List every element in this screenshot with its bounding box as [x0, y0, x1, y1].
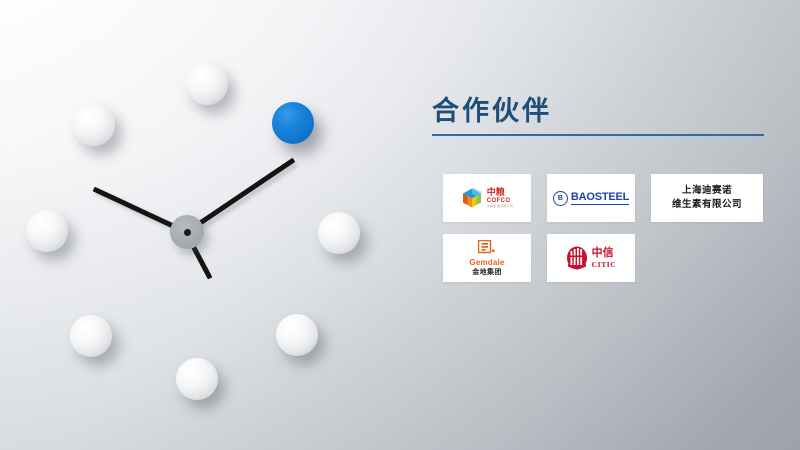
cofco-sub-label: 中粮集团有限公司: [487, 205, 513, 208]
clock-center-pin: [184, 229, 191, 236]
partner-logo-cofco[interactable]: 中粮 COFCO 中粮集团有限公司: [443, 174, 531, 222]
cofco-en-label: COFCO: [487, 198, 511, 204]
citic-emblem-icon: [566, 246, 588, 270]
minute-hand-shadow: [189, 162, 298, 238]
clock-marker-7: [70, 315, 112, 357]
partner-logo-gemdale[interactable]: Gemdale 金地集团: [443, 234, 531, 282]
title-underline: [432, 134, 764, 136]
partner-logo-citic[interactable]: 中信 CITIC: [547, 234, 635, 282]
clock-marker-4: [276, 314, 318, 356]
partner-logo-baosteel[interactable]: B BAOSTEEL: [547, 174, 635, 222]
slide-canvas: 合作伙伴: [0, 0, 800, 450]
citic-cn-label: 中信: [592, 248, 614, 259]
cofco-cn-label: 中粮: [487, 188, 505, 197]
clock-marker-9: [26, 210, 68, 252]
gemdale-wordmark: Gemdale: [469, 259, 504, 267]
partner-logo-grid: 中粮 COFCO 中粮集团有限公司 B BAOSTEEL: [443, 174, 778, 294]
wall-clock: [0, 0, 400, 450]
partner-logo-disano[interactable]: 上海迪赛诺 维生素有限公司: [651, 174, 763, 222]
citic-en-label: CITIC: [592, 261, 617, 269]
partner-row-1: 中粮 COFCO 中粮集团有限公司 B BAOSTEEL: [443, 174, 778, 222]
partner-row-2: Gemdale 金地集团: [443, 234, 778, 282]
page-title: 合作伙伴: [432, 94, 552, 128]
baosteel-wordmark: BAOSTEEL: [571, 191, 629, 205]
disano-line-1: 上海迪赛诺: [672, 184, 742, 198]
clock-marker-1-highlight: [272, 102, 314, 144]
cofco-cube-icon: [461, 187, 483, 209]
clock-marker-6: [176, 358, 218, 400]
clock-marker-3: [318, 212, 360, 254]
partners-panel: 合作伙伴: [428, 94, 778, 304]
disano-line-2: 维生素有限公司: [672, 198, 742, 212]
clock-marker-10: [73, 104, 115, 146]
gemdale-square-icon: [478, 240, 495, 256]
baosteel-emblem-icon: B: [553, 191, 568, 206]
clock-marker-12: [186, 63, 228, 105]
gemdale-cn-label: 金地集团: [472, 269, 502, 276]
